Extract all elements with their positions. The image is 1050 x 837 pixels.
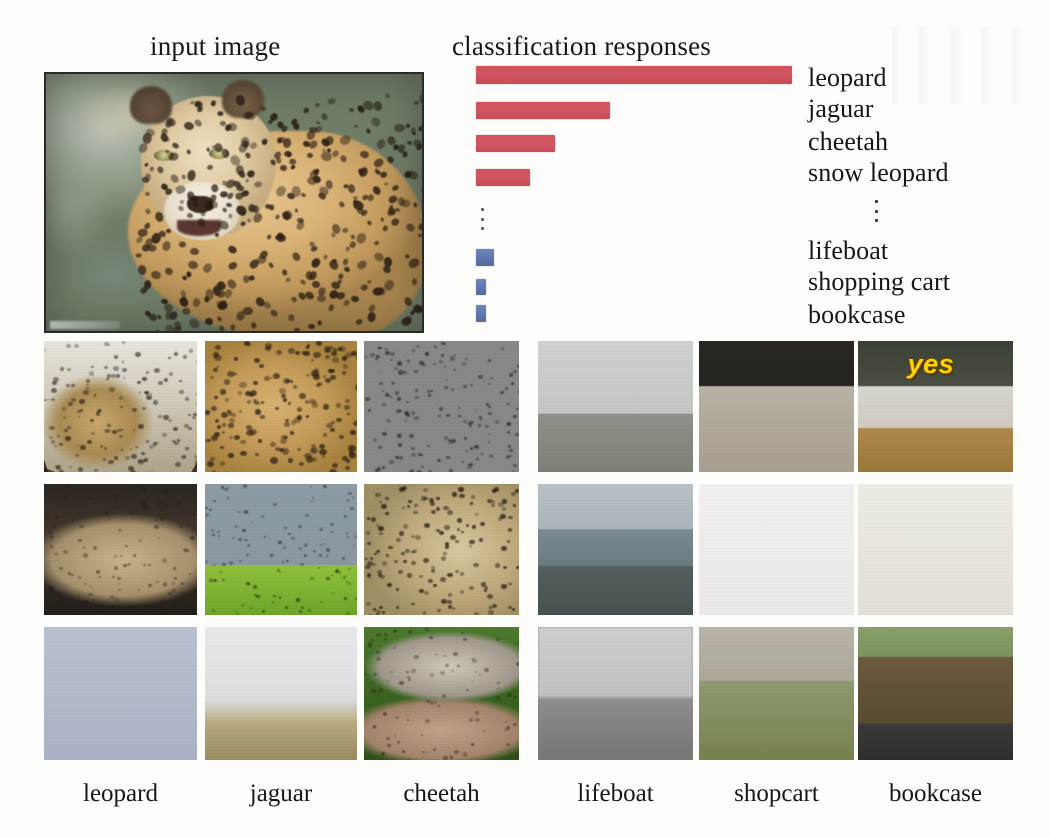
column-caption-shopcart: shopcart (699, 780, 854, 808)
thumb-bookcase-r1c6: yes (858, 341, 1013, 472)
page-title-input-image: input image (150, 31, 280, 62)
class-label-cheetah: cheetah (808, 127, 888, 157)
thumb-lifeboat-r3c4 (538, 627, 693, 760)
column-caption-bookcase: bookcase (858, 780, 1013, 808)
thumb-cheetah-r1c3 (364, 341, 519, 472)
label-ellipsis-icon (874, 200, 878, 222)
bar-leopard (476, 66, 792, 84)
photo-credit-watermark (50, 321, 120, 329)
class-label-leopard: leopard (808, 63, 887, 93)
classification-bar-chart (476, 66, 806, 316)
thumb-shopcart-r2c5 (699, 484, 854, 615)
figure-canvas: input image classification responses leo… (0, 0, 1050, 837)
class-label-bookcase: bookcase (808, 300, 906, 330)
thumb-bookcase-r3c6 (858, 627, 1013, 760)
thumb-leopard-r1c1 (44, 341, 197, 472)
bar-jaguar (476, 102, 610, 119)
thumb-jaguar-r1c2 (205, 341, 357, 472)
bar-cheetah (476, 135, 555, 152)
chart-ellipsis-icon (480, 208, 484, 230)
bar-lifeboat (476, 249, 494, 266)
class-label-jaguar: jaguar (808, 94, 874, 124)
thumb-leopard-r3c1 (44, 627, 197, 760)
column-caption-leopard: leopard (44, 780, 197, 808)
column-caption-cheetah: cheetah (364, 780, 519, 808)
page-title-classification-responses: classification responses (452, 31, 711, 62)
class-label-snow-leopard: snow leopard (808, 158, 949, 188)
thumb-cheetah-r2c3 (364, 484, 519, 615)
bar-shopping-cart (476, 279, 486, 295)
thumb-shopcart-r1c5 (699, 341, 854, 472)
input-image-photo (44, 72, 424, 333)
column-caption-jaguar: jaguar (205, 780, 357, 808)
thumb-jaguar-r2c2 (205, 484, 357, 615)
thumb-cheetah-r3c3 (364, 627, 519, 760)
bar-bookcase (476, 305, 486, 322)
class-label-lifeboat: lifeboat (808, 236, 888, 266)
column-caption-lifeboat: lifeboat (538, 780, 693, 808)
class-label-shopping-cart: shopping cart (808, 267, 950, 297)
thumb-shopcart-r3c5 (699, 627, 854, 760)
thumb-bookcase-r2c6 (858, 484, 1013, 615)
thumb-jaguar-r3c2 (205, 627, 357, 760)
thumb-lifeboat-r1c4 (538, 341, 693, 472)
thumb-leopard-r2c1 (44, 484, 197, 615)
bar-snow-leopard (476, 169, 530, 186)
background-watermark (880, 26, 1050, 104)
thumb-lifeboat-r2c4 (538, 484, 693, 615)
